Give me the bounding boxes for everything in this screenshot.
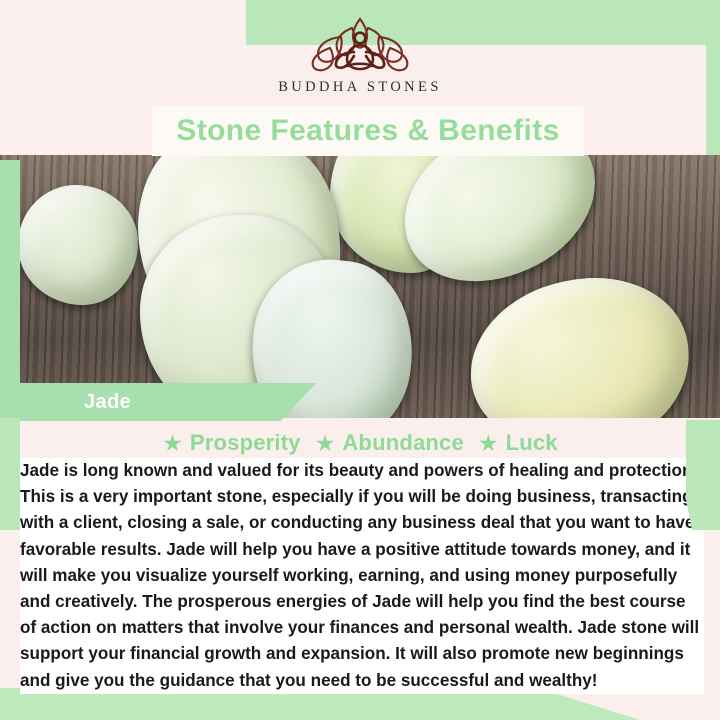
stone-caption-band: Jade xyxy=(20,383,316,421)
decor-green-right-shape xyxy=(686,420,720,530)
star-icon: ★ xyxy=(315,432,336,455)
star-icon: ★ xyxy=(478,432,499,455)
decor-green-left-strip-lower xyxy=(0,418,20,530)
lotus-meditation-icon xyxy=(296,12,424,78)
page-title: Stone Features & Benefits xyxy=(176,114,559,148)
stone-description: Jade is long known and valued for its be… xyxy=(20,458,704,694)
star-icon: ★ xyxy=(162,432,183,455)
keyword-list: ★ Prosperity ★ Abundance ★ Luck xyxy=(0,430,720,456)
stone-name: Jade xyxy=(84,391,131,414)
keyword-item: ★ Abundance xyxy=(315,430,464,456)
logo: BUDDHA STONES xyxy=(278,12,442,96)
brand-header: BUDDHA STONES xyxy=(0,0,720,108)
brand-name: BUDDHA STONES xyxy=(278,79,442,96)
title-banner: Stone Features & Benefits xyxy=(152,106,584,156)
infographic-card: BUDDHA STONES Stone Features & Benefits … xyxy=(0,0,720,720)
stone-photo xyxy=(0,155,720,418)
keyword-label: Abundance xyxy=(342,430,464,456)
keyword-label: Luck xyxy=(506,430,558,456)
decor-green-left-strip xyxy=(0,160,20,428)
keyword-label: Prosperity xyxy=(190,430,301,456)
keyword-item: ★ Prosperity xyxy=(162,430,300,456)
keyword-item: ★ Luck xyxy=(478,430,558,456)
stone-shape xyxy=(18,185,138,305)
